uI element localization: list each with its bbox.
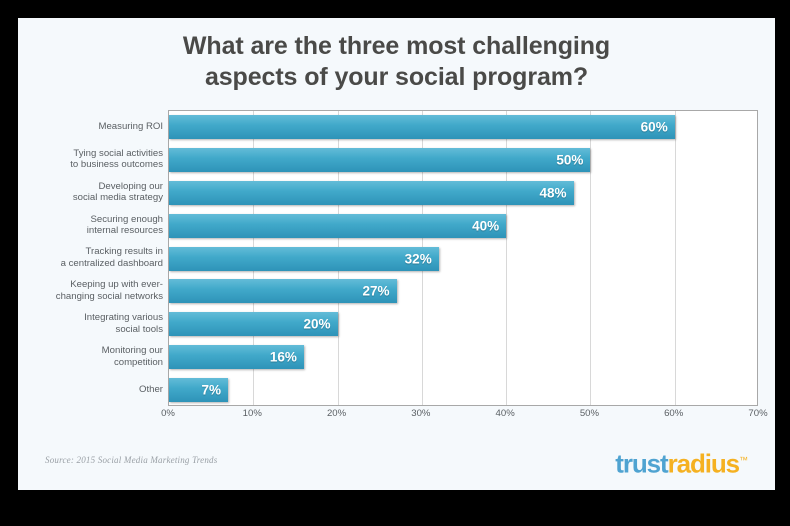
page-title: What are the three most challenging aspe…: [18, 31, 775, 93]
bar-value-label: 16%: [270, 350, 297, 365]
x-axis-tick-label: 50%: [580, 408, 599, 419]
bar[interactable]: 50%: [169, 148, 590, 172]
bar[interactable]: 20%: [169, 312, 338, 336]
bar-row: 7%: [169, 374, 757, 407]
trustradius-logo: trustradius™: [615, 446, 748, 478]
bar-row: 32%: [169, 243, 757, 276]
source-note: Source: 2015 Social Media Marketing Tren…: [45, 455, 217, 465]
trademark-icon: ™: [739, 455, 748, 465]
bar-row: 60%: [169, 111, 757, 144]
bar-value-label: 27%: [363, 284, 390, 299]
value-axis-labels: 0%10%20%30%40%50%60%70%: [168, 408, 758, 424]
bar[interactable]: 32%: [169, 247, 439, 271]
bar-value-label: 60%: [641, 120, 668, 135]
bar-row: 48%: [169, 177, 757, 210]
title-line-1: What are the three most challenging: [18, 31, 775, 62]
bar-value-label: 50%: [556, 152, 583, 167]
x-axis-tick-label: 70%: [748, 408, 767, 419]
bar-row: 27%: [169, 275, 757, 308]
bar[interactable]: 16%: [169, 345, 304, 369]
category-label-line: to business outcomes: [38, 159, 163, 171]
x-axis-tick-label: 60%: [664, 408, 683, 419]
logo-text-trust: trust: [615, 449, 667, 479]
infographic-card: What are the three most challenging aspe…: [18, 18, 775, 490]
category-axis-labels: Measuring ROITying social activitiesto b…: [38, 110, 163, 406]
category-label: Developing oursocial media strategy: [38, 181, 163, 204]
category-label: Other: [38, 384, 163, 396]
bar-value-label: 7%: [201, 383, 221, 398]
bar[interactable]: 27%: [169, 279, 397, 303]
category-label: Integrating varioussocial tools: [38, 312, 163, 335]
logo-text-radius: radius: [668, 449, 739, 479]
bar-series: 60%50%48%40%32%27%20%16%7%: [169, 111, 757, 405]
category-label-line: social tools: [38, 324, 163, 336]
bar-row: 40%: [169, 210, 757, 243]
category-label-line: Keeping up with ever-: [38, 279, 163, 291]
category-label-line: changing social networks: [38, 291, 163, 303]
category-label-line: Tying social activities: [38, 148, 163, 160]
category-label: Keeping up with ever-changing social net…: [38, 279, 163, 302]
chart-plot-area: 60%50%48%40%32%27%20%16%7%: [168, 110, 758, 406]
category-label-line: social media strategy: [38, 192, 163, 204]
category-label: Monitoring ourcompetition: [38, 345, 163, 368]
bar-row: 16%: [169, 341, 757, 374]
x-axis-tick-label: 20%: [327, 408, 346, 419]
title-line-2: aspects of your social program?: [18, 62, 775, 93]
category-label-line: Other: [38, 384, 163, 396]
bar-value-label: 40%: [472, 218, 499, 233]
bar-value-label: 20%: [304, 317, 331, 332]
category-label-line: competition: [38, 357, 163, 369]
category-label-line: a centralized dashboard: [38, 258, 163, 270]
category-label: Measuring ROI: [38, 121, 163, 133]
x-axis-tick-label: 10%: [243, 408, 262, 419]
bar-row: 50%: [169, 144, 757, 177]
category-label-line: Monitoring our: [38, 345, 163, 357]
bar-row: 20%: [169, 308, 757, 341]
category-label-line: Tracking results in: [38, 246, 163, 258]
category-label: Tying social activitiesto business outco…: [38, 148, 163, 171]
category-label-line: internal resources: [38, 225, 163, 237]
bar-value-label: 32%: [405, 251, 432, 266]
bar[interactable]: 40%: [169, 214, 506, 238]
category-label: Tracking results ina centralized dashboa…: [38, 246, 163, 269]
bar[interactable]: 48%: [169, 181, 574, 205]
x-axis-tick-label: 40%: [496, 408, 515, 419]
bar-value-label: 48%: [540, 185, 567, 200]
category-label-line: Integrating various: [38, 312, 163, 324]
bar[interactable]: 60%: [169, 115, 675, 139]
x-axis-tick-label: 0%: [161, 408, 175, 419]
category-label-line: Measuring ROI: [38, 121, 163, 133]
x-axis-tick-label: 30%: [411, 408, 430, 419]
category-label-line: Securing enough: [38, 214, 163, 226]
category-label-line: Developing our: [38, 181, 163, 193]
category-label: Securing enoughinternal resources: [38, 214, 163, 237]
bar[interactable]: 7%: [169, 378, 228, 402]
